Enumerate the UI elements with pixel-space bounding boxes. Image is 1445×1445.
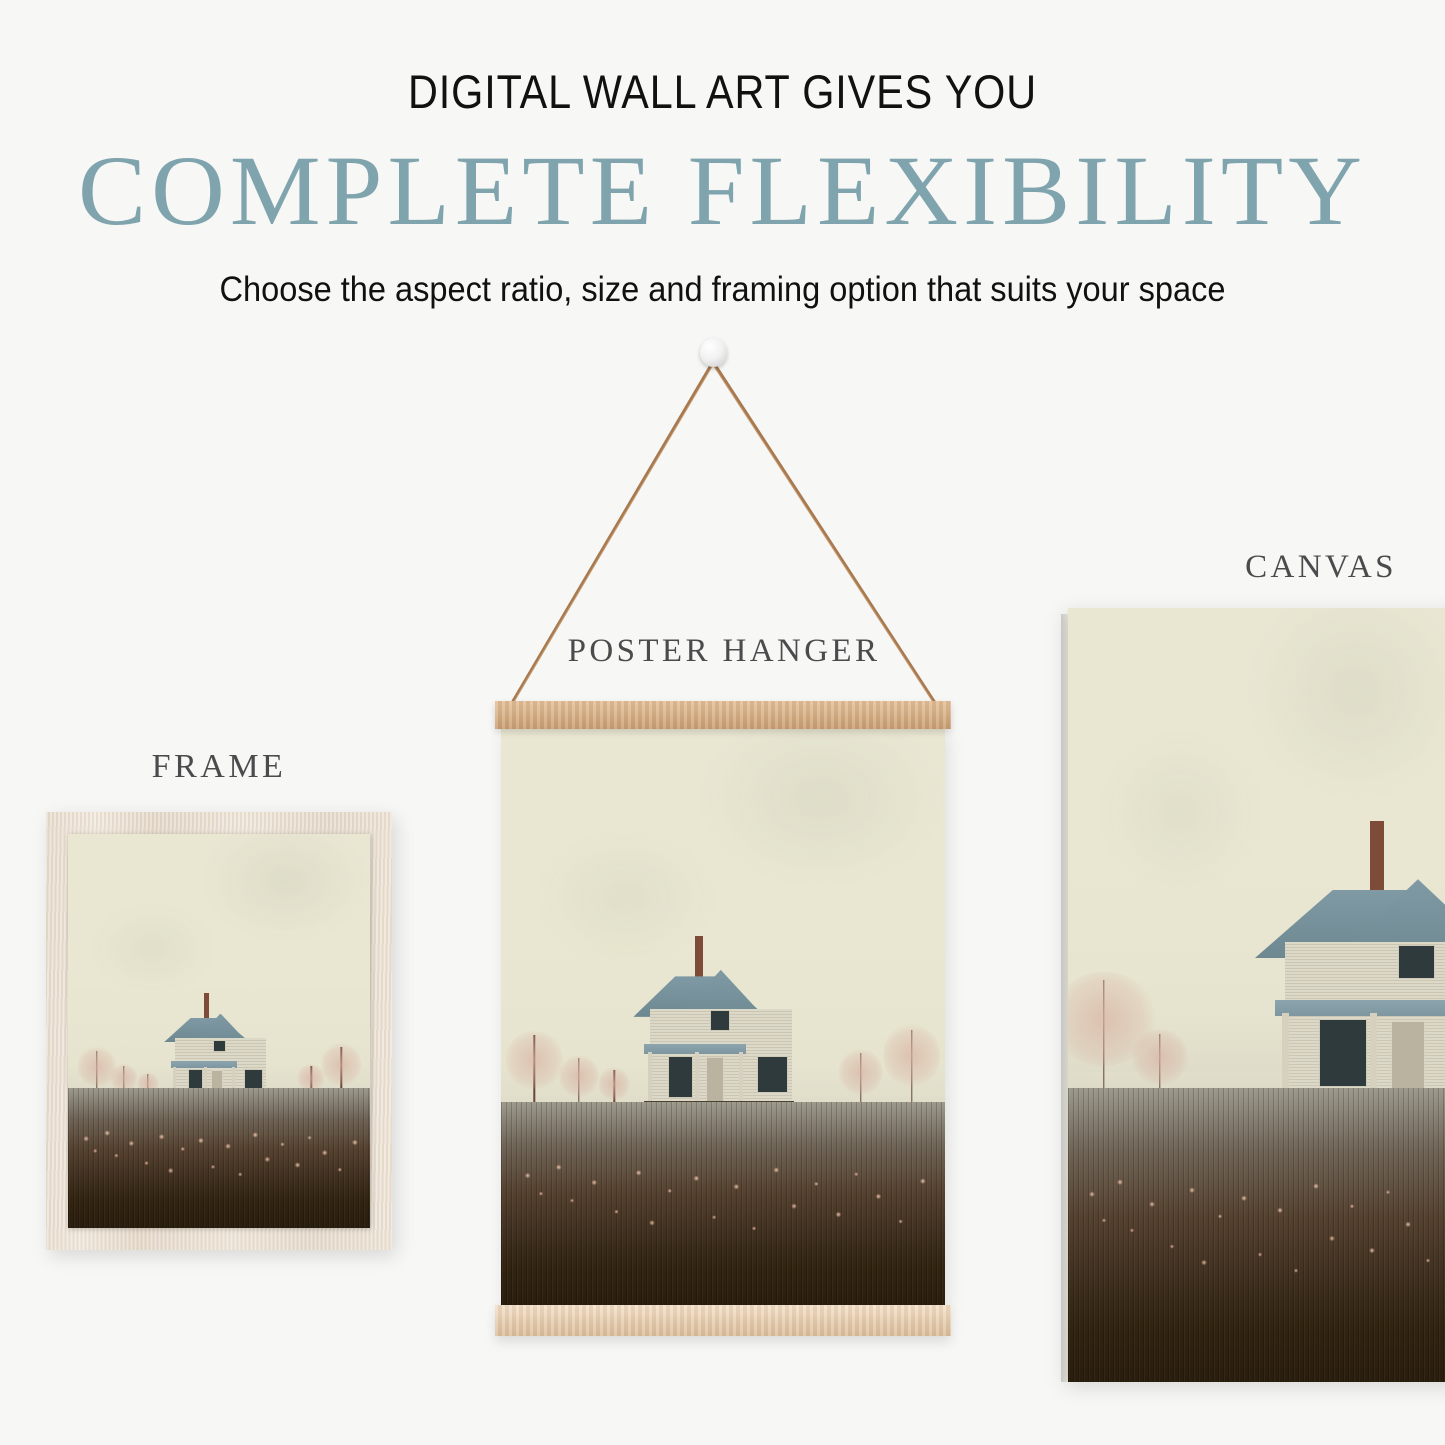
- hanger-bottom-rail[interactable]: [495, 1305, 951, 1336]
- farmhouse-illustration: [630, 960, 812, 1122]
- hanger-top-rail[interactable]: [495, 701, 951, 729]
- artwork-frame: [68, 834, 370, 1228]
- artwork-wildflowers: [68, 1118, 370, 1213]
- framed-print-product[interactable]: [46, 812, 392, 1250]
- frame-mat-inner: [68, 834, 370, 1228]
- artwork-wildflowers: [501, 1145, 945, 1284]
- poster-hanger-product[interactable]: [501, 729, 945, 1307]
- poster-hanger-label: POSTER HANGER: [512, 633, 936, 670]
- artwork-wildflowers: [1068, 1150, 1445, 1351]
- artwork-poster: [501, 729, 945, 1307]
- wall-nail-icon: [700, 338, 727, 367]
